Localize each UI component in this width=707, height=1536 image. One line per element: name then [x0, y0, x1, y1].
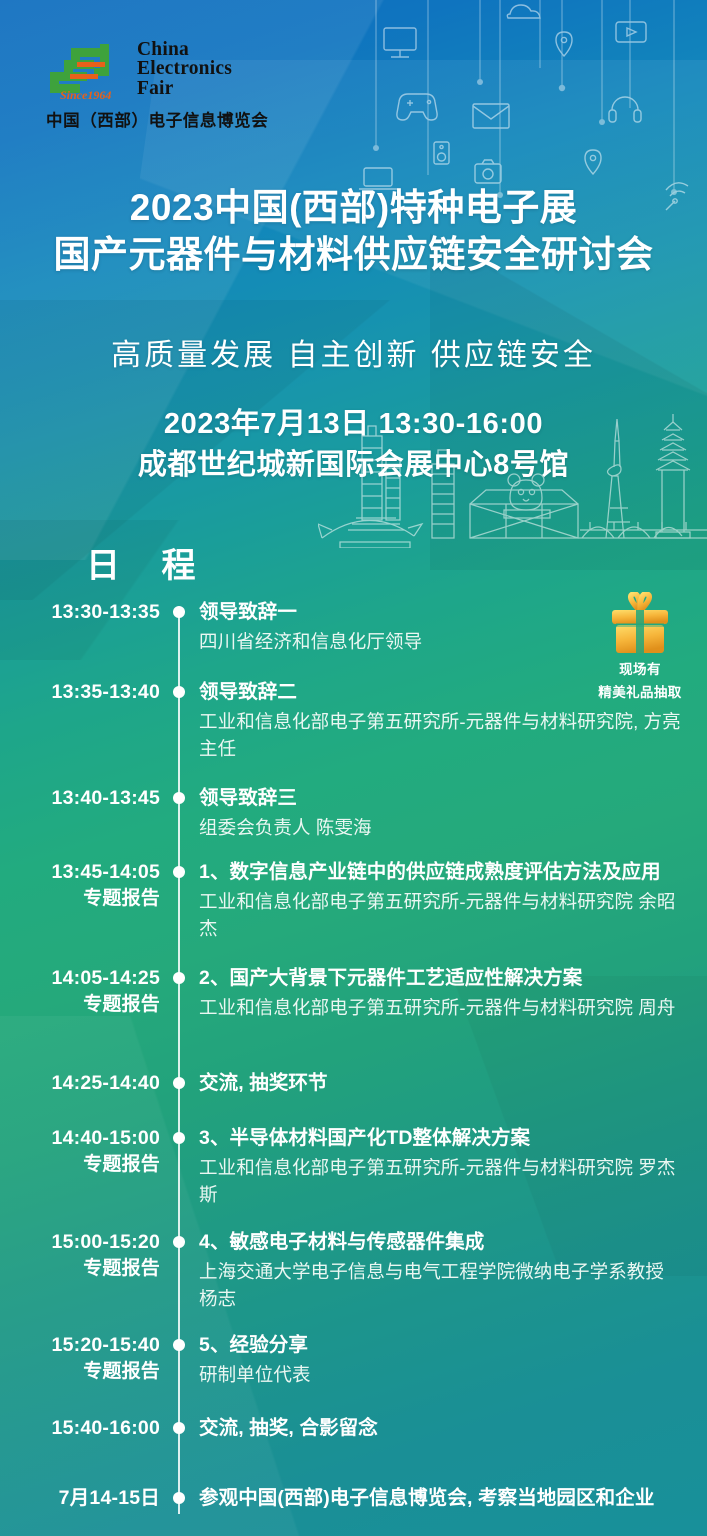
schedule-row[interactable]: 15:00-15:20 专题报告 4、敏感电子材料与传感器件集成 上海交通大学电… — [0, 1230, 707, 1312]
schedule-item-desc: 四川省经济和信息化厅领导 — [199, 629, 685, 655]
timeline-dot — [173, 1339, 185, 1351]
schedule-time: 15:40-16:00 — [0, 1416, 160, 1442]
schedule-item-title: 参观中国(西部)电子信息博览会, 考察当地园区和企业 — [199, 1486, 685, 1511]
schedule-time: 13:35-13:40 — [0, 680, 160, 762]
schedule-body: 交流, 抽奖环节 — [199, 1071, 707, 1097]
schedule-item-title: 领导致辞二 — [199, 680, 685, 705]
schedule-time-sub: 专题报告 — [0, 1359, 160, 1384]
schedule-body: 参观中国(西部)电子信息博览会, 考察当地园区和企业 — [199, 1486, 707, 1512]
schedule-body: 5、经验分享 研制单位代表 — [199, 1333, 707, 1389]
schedule-item-title: 2、国产大背景下元器件工艺适应性解决方案 — [199, 966, 685, 991]
hero-slogan: 高质量发展 自主创新 供应链安全 — [0, 330, 707, 374]
schedule-item-desc: 工业和信息化部电子第五研究所-元器件与材料研究院 罗杰斯 — [199, 1155, 685, 1208]
schedule-row[interactable]: 13:40-13:45 领导致辞三 组委会负责人 陈雯海 — [0, 786, 707, 842]
timeline-dot — [173, 1422, 185, 1434]
schedule-body: 领导致辞二 工业和信息化部电子第五研究所-元器件与材料研究院, 方亮主任 — [199, 680, 707, 762]
schedule-row[interactable]: 14:40-15:00 专题报告 3、半导体材料国产化TD整体解决方案 工业和信… — [0, 1126, 707, 1208]
timeline-dot — [173, 1077, 185, 1089]
schedule-time: 15:20-15:40 专题报告 — [0, 1333, 160, 1389]
schedule-item-desc: 工业和信息化部电子第五研究所-元器件与材料研究院 余昭杰 — [199, 889, 685, 942]
timeline-dot — [173, 792, 185, 804]
schedule-item-title: 领导致辞一 — [199, 600, 685, 625]
schedule-time: 14:25-14:40 — [0, 1071, 160, 1097]
schedule-timeline: 13:30-13:35 领导致辞一 四川省经济和信息化厅领导 13:35-13:… — [0, 588, 707, 1536]
schedule-row[interactable]: 15:20-15:40 专题报告 5、经验分享 研制单位代表 — [0, 1333, 707, 1389]
schedule-item-desc: 工业和信息化部电子第五研究所-元器件与材料研究院, 方亮主任 — [199, 709, 685, 762]
schedule-time-sub: 专题报告 — [0, 1152, 160, 1177]
schedule-time: 14:40-15:00 专题报告 — [0, 1126, 160, 1208]
logo-text-china: China — [137, 40, 232, 60]
cef-logo-mark: Since1964 — [44, 38, 130, 100]
hero-title-line2: 国产元器件与材料供应链安全研讨会 — [0, 232, 707, 279]
schedule-body: 交流, 抽奖, 合影留念 — [199, 1416, 707, 1442]
timeline-dot — [173, 1492, 185, 1504]
schedule-row[interactable]: 7月14-15日 参观中国(西部)电子信息博览会, 考察当地园区和企业 — [0, 1486, 707, 1512]
logo-since-text: Since1964 — [60, 88, 111, 100]
schedule-row[interactable]: 14:25-14:40 交流, 抽奖环节 — [0, 1071, 707, 1097]
logo-text-electronics: Electronics — [137, 59, 232, 79]
schedule-row[interactable]: 15:40-16:00 交流, 抽奖, 合影留念 — [0, 1416, 707, 1442]
logo-chinese-name: 中国（西部）电子信息博览会 — [46, 107, 294, 131]
hero-venue: 成都世纪城新国际会展中心8号馆 — [0, 445, 707, 486]
timeline-dot — [173, 606, 185, 618]
schedule-item-desc: 上海交通大学电子信息与电气工程学院微纳电子学系教授 杨志 — [199, 1259, 685, 1312]
schedule-heading: 日 程 — [86, 538, 211, 587]
schedule-item-title: 交流, 抽奖, 合影留念 — [199, 1416, 685, 1441]
timeline-dot — [173, 972, 185, 984]
timeline-dot — [173, 686, 185, 698]
logo-text-fair: Fair — [137, 79, 232, 99]
schedule-item-title: 5、经验分享 — [199, 1333, 685, 1358]
hero-title-block: 2023中国(西部)特种电子展 国产元器件与材料供应链安全研讨会 — [0, 185, 707, 279]
schedule-time-sub: 专题报告 — [0, 1256, 160, 1281]
schedule-body: 4、敏感电子材料与传感器件集成 上海交通大学电子信息与电气工程学院微纳电子学系教… — [199, 1230, 707, 1312]
schedule-time-sub: 专题报告 — [0, 886, 160, 911]
schedule-item-title: 1、数字信息产业链中的供应链成熟度评估方法及应用 — [199, 860, 685, 885]
schedule-row[interactable]: 13:35-13:40 领导致辞二 工业和信息化部电子第五研究所-元器件与材料研… — [0, 680, 707, 762]
schedule-time: 13:40-13:45 — [0, 786, 160, 842]
event-poster: Since1964 China Electronics Fair 中国（西部）电… — [0, 0, 707, 1536]
timeline-dot — [173, 1132, 185, 1144]
schedule-body: 领导致辞三 组委会负责人 陈雯海 — [199, 786, 707, 842]
schedule-row[interactable]: 14:05-14:25 专题报告 2、国产大背景下元器件工艺适应性解决方案 工业… — [0, 966, 707, 1022]
timeline-dot — [173, 1236, 185, 1248]
schedule-body: 3、半导体材料国产化TD整体解决方案 工业和信息化部电子第五研究所-元器件与材料… — [199, 1126, 707, 1208]
schedule-item-desc: 组委会负责人 陈雯海 — [199, 815, 685, 841]
schedule-item-title: 3、半导体材料国产化TD整体解决方案 — [199, 1126, 685, 1151]
schedule-time: 14:05-14:25 专题报告 — [0, 966, 160, 1022]
schedule-body: 领导致辞一 四川省经济和信息化厅领导 — [199, 600, 707, 656]
schedule-item-desc: 工业和信息化部电子第五研究所-元器件与材料研究院 周舟 — [199, 995, 685, 1021]
decor-facet-2 — [83, 60, 707, 580]
schedule-item-desc: 研制单位代表 — [199, 1362, 685, 1388]
schedule-item-title: 4、敏感电子材料与传感器件集成 — [199, 1230, 685, 1255]
schedule-item-title: 交流, 抽奖环节 — [199, 1071, 685, 1096]
hero-datetime-block: 2023年7月13日 13:30-16:00 成都世纪城新国际会展中心8号馆 — [0, 404, 707, 486]
brand-logo: Since1964 China Electronics Fair 中国（西部）电… — [44, 38, 294, 131]
schedule-time: 15:00-15:20 专题报告 — [0, 1230, 160, 1312]
schedule-body: 2、国产大背景下元器件工艺适应性解决方案 工业和信息化部电子第五研究所-元器件与… — [199, 966, 707, 1022]
schedule-time-sub: 专题报告 — [0, 992, 160, 1017]
hero-date: 2023年7月13日 13:30-16:00 — [0, 404, 707, 445]
schedule-item-title: 领导致辞三 — [199, 786, 685, 811]
timeline-dot — [173, 866, 185, 878]
schedule-time: 13:30-13:35 — [0, 600, 160, 656]
schedule-time: 13:45-14:05 专题报告 — [0, 860, 160, 942]
schedule-time: 7月14-15日 — [0, 1486, 160, 1512]
schedule-row[interactable]: 13:45-14:05 专题报告 1、数字信息产业链中的供应链成熟度评估方法及应… — [0, 860, 707, 942]
hero-title-line1: 2023中国(西部)特种电子展 — [0, 185, 707, 232]
schedule-row[interactable]: 13:30-13:35 领导致辞一 四川省经济和信息化厅领导 — [0, 600, 707, 656]
schedule-body: 1、数字信息产业链中的供应链成熟度评估方法及应用 工业和信息化部电子第五研究所-… — [199, 860, 707, 942]
